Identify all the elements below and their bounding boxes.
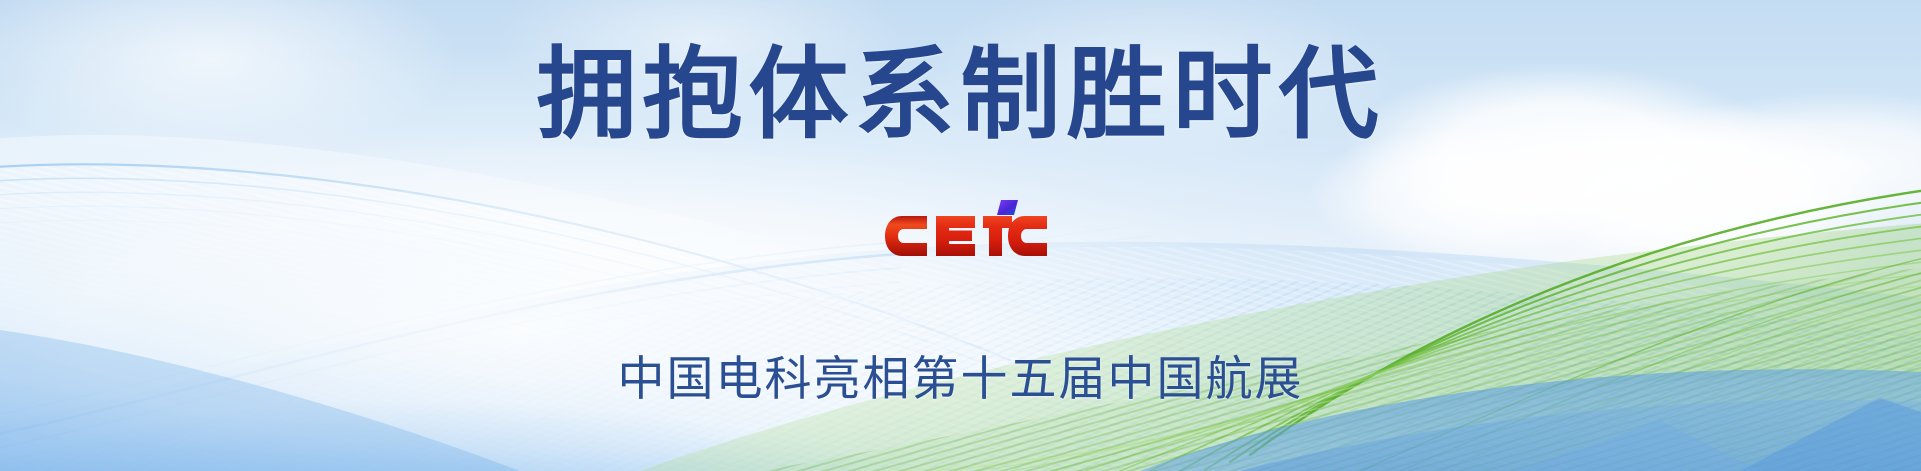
page-title: 拥抱体系制胜时代 (0, 36, 1921, 154)
cetc-logo (884, 200, 1048, 272)
cetc-airshow-banner: 拥抱体系制胜时代 (0, 0, 1921, 471)
logo-accent-parallelogram (997, 200, 1018, 215)
cetc-logo-mark (884, 200, 1048, 272)
page-subtitle: 中国电科亮相第十五届中国航展 (0, 340, 1921, 409)
